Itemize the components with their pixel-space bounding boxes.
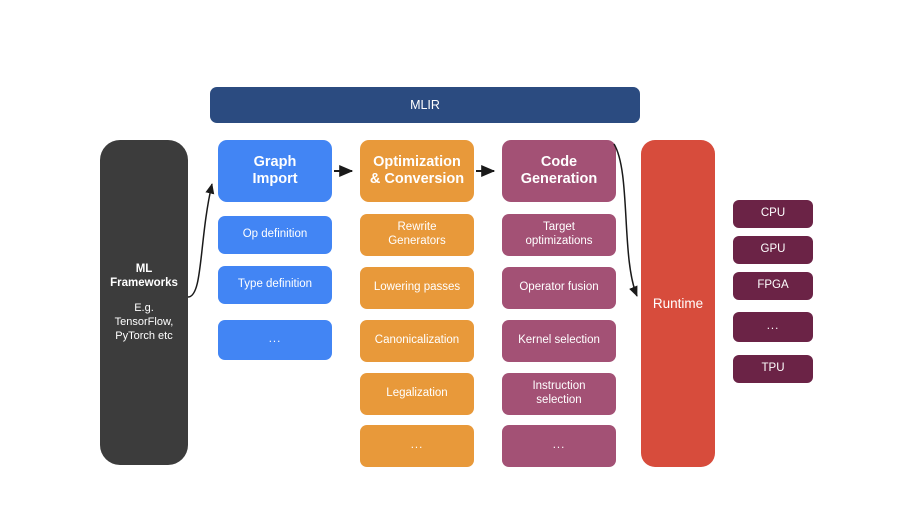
stage-graph-import[interactable]: Graph Import bbox=[218, 140, 332, 202]
hardware-target-gpu-label: GPU bbox=[761, 243, 786, 257]
item-instruction-selection[interactable]: Instruction selection bbox=[502, 373, 616, 415]
stage-optimization-conversion-label: Optimization & Conversion bbox=[370, 154, 464, 188]
hardware-target-tpu-label: TPU bbox=[762, 362, 785, 376]
arrow-frameworks-to-graph-import bbox=[188, 184, 212, 297]
item-canonicalization-label: Canonicalization bbox=[375, 334, 459, 348]
hardware-target-more[interactable]: ... bbox=[733, 312, 813, 342]
mlir-title-bar: MLIR bbox=[210, 87, 640, 123]
item-type-definition-label: Type definition bbox=[238, 278, 312, 292]
stage-code-generation[interactable]: Code Generation bbox=[502, 140, 616, 202]
item-operator-fusion-label: Operator fusion bbox=[519, 281, 598, 295]
item-lowering-passes-label: Lowering passes bbox=[374, 281, 460, 295]
hardware-target-gpu[interactable]: GPU bbox=[733, 236, 813, 264]
runtime-label: Runtime bbox=[653, 296, 703, 312]
diagram-canvas: MLIR ML Frameworks E.g. TensorFlow, PyTo… bbox=[0, 0, 900, 505]
item-kernel-selection-label: Kernel selection bbox=[518, 334, 600, 348]
item-op-definition-label: Op definition bbox=[243, 228, 308, 242]
item-target-optimizations-label: Target optimizations bbox=[525, 221, 592, 248]
item-canonicalization[interactable]: Canonicalization bbox=[360, 320, 474, 362]
hardware-target-more-label: ... bbox=[767, 320, 780, 334]
hardware-target-cpu[interactable]: CPU bbox=[733, 200, 813, 228]
item-operator-fusion[interactable]: Operator fusion bbox=[502, 267, 616, 309]
mlir-label: MLIR bbox=[410, 98, 440, 113]
stage-optimization-conversion[interactable]: Optimization & Conversion bbox=[360, 140, 474, 202]
hardware-target-tpu[interactable]: TPU bbox=[733, 355, 813, 383]
item-target-optimizations[interactable]: Target optimizations bbox=[502, 214, 616, 256]
arrow-codegen-to-runtime bbox=[614, 144, 637, 296]
item-instruction-selection-label: Instruction selection bbox=[532, 380, 585, 407]
stage-graph-import-label: Graph Import bbox=[252, 154, 297, 188]
item-lowering-passes[interactable]: Lowering passes bbox=[360, 267, 474, 309]
item-optimization-more[interactable]: ... bbox=[360, 425, 474, 467]
item-code-generation-more[interactable]: ... bbox=[502, 425, 616, 467]
item-graph-import-more-label: ... bbox=[269, 333, 282, 347]
runtime-box[interactable]: Runtime bbox=[641, 140, 715, 467]
ml-frameworks-title: ML Frameworks bbox=[110, 262, 178, 291]
item-kernel-selection[interactable]: Kernel selection bbox=[502, 320, 616, 362]
item-op-definition[interactable]: Op definition bbox=[218, 216, 332, 254]
hardware-target-cpu-label: CPU bbox=[761, 207, 785, 221]
item-rewrite-generators-label: Rewrite Generators bbox=[388, 221, 446, 248]
ml-frameworks-subtitle: E.g. TensorFlow, PyTorch etc bbox=[115, 302, 174, 343]
item-legalization[interactable]: Legalization bbox=[360, 373, 474, 415]
stage-code-generation-label: Code Generation bbox=[521, 154, 598, 188]
item-rewrite-generators[interactable]: Rewrite Generators bbox=[360, 214, 474, 256]
hardware-target-fpga-label: FPGA bbox=[757, 279, 788, 293]
ml-frameworks-box: ML Frameworks E.g. TensorFlow, PyTorch e… bbox=[100, 140, 188, 465]
hardware-target-fpga[interactable]: FPGA bbox=[733, 272, 813, 300]
item-graph-import-more[interactable]: ... bbox=[218, 320, 332, 360]
item-code-generation-more-label: ... bbox=[553, 439, 566, 453]
item-type-definition[interactable]: Type definition bbox=[218, 266, 332, 304]
item-legalization-label: Legalization bbox=[386, 387, 447, 401]
item-optimization-more-label: ... bbox=[411, 439, 424, 453]
